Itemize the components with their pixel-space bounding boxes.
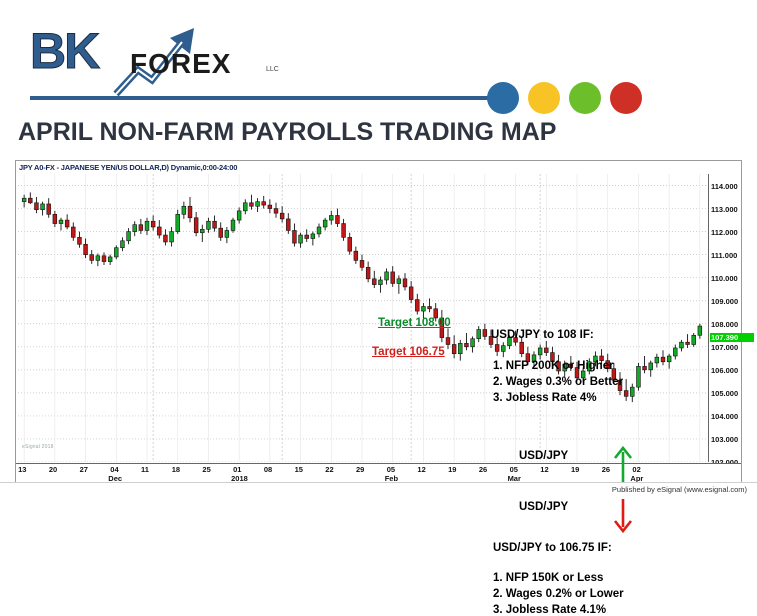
logo-bk-text: BK: [30, 22, 98, 80]
day-tick-label: 12: [417, 465, 425, 474]
arrow-up-icon: [611, 444, 635, 484]
price-tick-label: 103.000: [711, 435, 738, 444]
down-condition-2: 2. Wages 0.2% or Lower: [493, 588, 624, 600]
day-tick-label: 22: [325, 465, 333, 474]
price-tick-label: 107.000: [711, 343, 738, 352]
bias-up-label: USD/JPY: [519, 450, 568, 462]
current-price-badge: 107.390: [710, 333, 754, 342]
price-chart-panel: JPY A0-FX - JAPANESE YEN/US DOLLAR,D) Dy…: [15, 160, 742, 482]
decor-dot-blue: [487, 82, 519, 114]
up-condition-2: 2. Wages 0.3% or Better: [493, 376, 623, 388]
day-tick-label: 27: [80, 465, 88, 474]
esignal-watermark: eSignal 2018: [22, 444, 54, 450]
up-condition-3: 3. Jobless Rate 4%: [493, 392, 597, 404]
price-tick-label: 104.000: [711, 412, 738, 421]
day-tick-label: 29: [356, 465, 364, 474]
chart-symbol-header: JPY A0-FX - JAPANESE YEN/US DOLLAR,D) Dy…: [19, 163, 237, 172]
arrow-down-icon: [611, 495, 635, 535]
up-condition-1: 1. NFP 200K or Higher: [493, 360, 614, 372]
price-tick-label: 113.000: [711, 205, 738, 214]
decor-dot-yellow: [528, 82, 560, 114]
day-tick-label: 26: [602, 465, 610, 474]
price-tick-label: 111.000: [711, 251, 737, 260]
decor-dot-green: [569, 82, 601, 114]
price-tick-label: 109.000: [711, 297, 738, 306]
day-tick-label: 20: [49, 465, 57, 474]
target-label-up: Target 108.00: [378, 317, 451, 329]
price-tick-label: 105.000: [711, 389, 738, 398]
decor-dot-red: [610, 82, 642, 114]
price-axis: 114.000113.000112.000111.000110.000109.0…: [708, 174, 757, 462]
logo-forex-text: FOREX: [130, 48, 231, 80]
publisher-credit: Published by eSignal (www.esignal.com): [612, 485, 747, 494]
day-tick-label: 19: [571, 465, 579, 474]
day-tick-label: 15: [295, 465, 303, 474]
logo-llc-text: LLC: [266, 66, 279, 73]
day-tick-label: 12: [540, 465, 548, 474]
day-tick-label: 11: [141, 465, 149, 474]
price-tick-label: 106.000: [711, 366, 738, 375]
day-tick-label: 01: [233, 465, 241, 474]
page-title: APRIL NON-FARM PAYROLLS TRADING MAP: [18, 118, 556, 147]
day-tick-label: 04: [110, 465, 118, 474]
page-footer: Published by eSignal (www.esignal.com): [0, 482, 757, 499]
down-condition-1: 1. NFP 150K or Less: [493, 572, 603, 584]
day-tick-label: 18: [172, 465, 180, 474]
header-divider-rule: [30, 96, 510, 100]
target-label-down: Target 106.75: [372, 346, 445, 358]
down-condition-3: 3. Jobless Rate 4.1%: [493, 604, 606, 616]
day-tick-label: 13: [18, 465, 26, 474]
day-tick-label: 05: [510, 465, 518, 474]
candlestick-plot-area: [18, 174, 706, 462]
price-tick-label: 114.000: [711, 182, 738, 191]
down-scenario-title: USD/JPY to 106.75 IF:: [493, 542, 612, 554]
candlestick-svg: [18, 174, 706, 462]
price-tick-label: 108.000: [711, 320, 738, 329]
day-tick-label: 25: [202, 465, 210, 474]
page-header: BK FOREX LLC APRIL NON-FARM PAYROLLS TRA…: [0, 0, 757, 155]
up-scenario-title: USD/JPY to 108 IF:: [491, 329, 594, 341]
day-tick-label: 19: [448, 465, 456, 474]
day-tick-label: 08: [264, 465, 272, 474]
footer-divider: [0, 482, 757, 483]
day-tick-label: 26: [479, 465, 487, 474]
price-tick-label: 110.000: [711, 274, 738, 283]
bias-down-label: USD/JPY: [519, 501, 568, 513]
day-tick-label: 05: [387, 465, 395, 474]
price-tick-label: 112.000: [711, 228, 738, 237]
bk-forex-logo: BK FOREX LLC: [30, 20, 280, 80]
